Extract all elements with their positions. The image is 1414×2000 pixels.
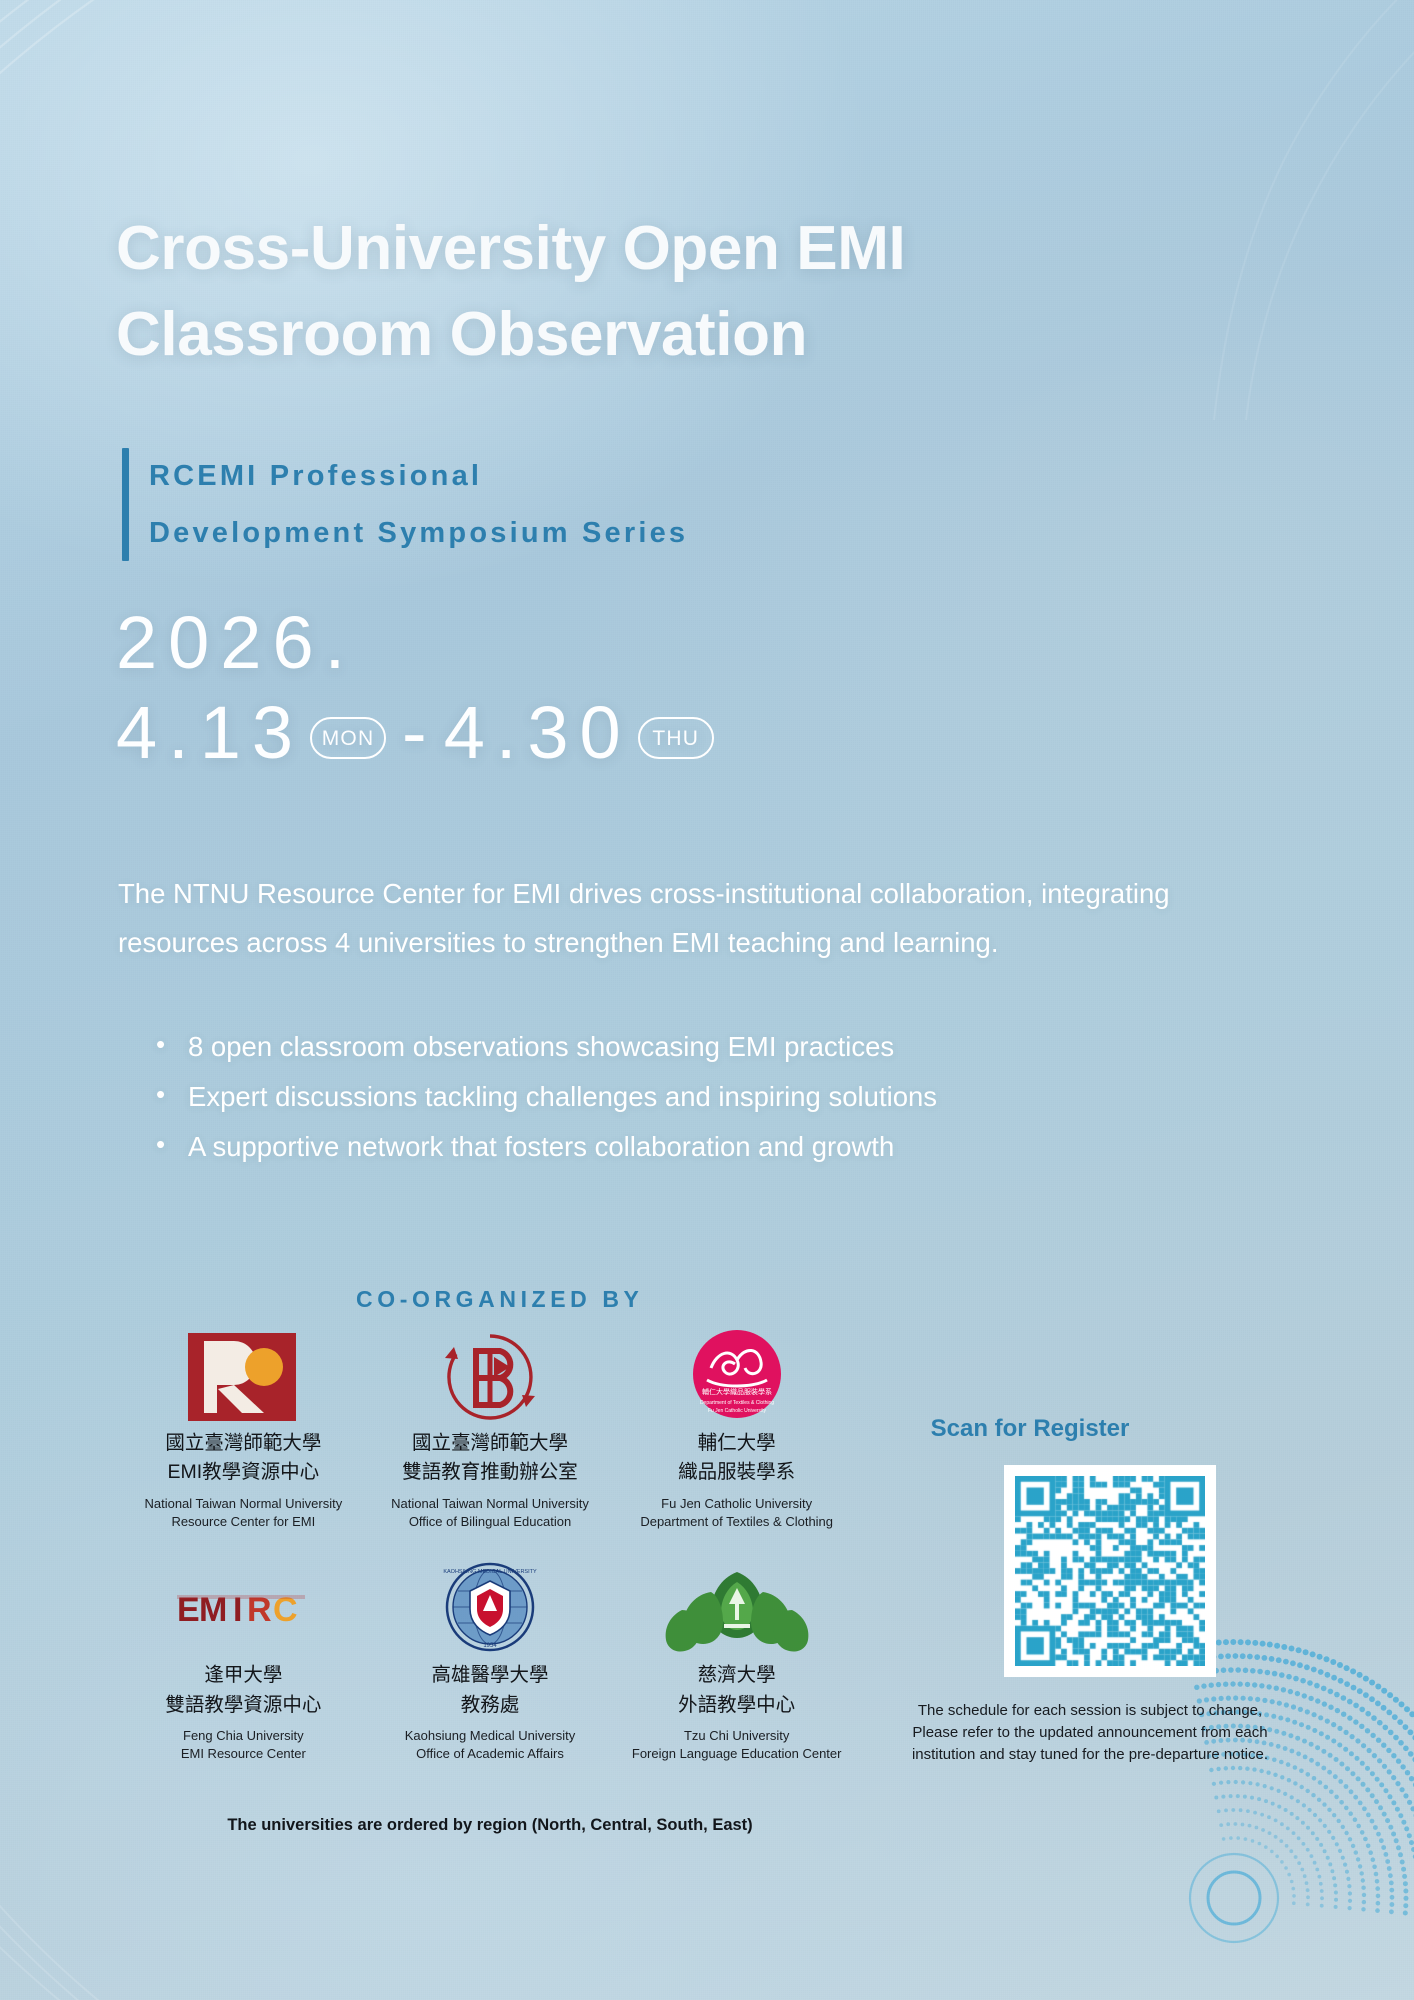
organizer-zh-line-1: 高雄醫學大學	[432, 1661, 549, 1690]
date-end-day-badge: THU	[638, 717, 714, 759]
date-start-day-badge: MON	[310, 717, 386, 759]
date-year-line: 2026.	[116, 598, 728, 688]
rcemi-logo	[182, 1325, 304, 1429]
organizer-en-line-1: Fu Jen Catholic University	[640, 1495, 833, 1513]
page-title: Cross-University Open EMI Classroom Obse…	[116, 206, 1216, 377]
subtitle-accent-bar	[122, 448, 129, 561]
title-line-2: Classroom Observation	[116, 292, 1216, 378]
organizer-row-1: 國立臺灣師範大學 EMI教學資源中心 National Taiwan Norma…	[120, 1325, 860, 1531]
organizer-zh-line-1: 慈濟大學	[678, 1661, 795, 1690]
kmu-crest-logo: 1954 KAOHSIUNG MEDICAL UNIVERSITY	[436, 1557, 544, 1661]
organizer-en-line-1: National Taiwan Normal University	[144, 1495, 342, 1513]
schedule-disclaimer: The schedule for each session is subject…	[900, 1700, 1280, 1766]
date-end: 4.30	[444, 688, 632, 778]
event-date-block: 2026. 4.13 MON - 4.30 THU	[116, 598, 728, 779]
date-year: 2026.	[116, 598, 356, 688]
organizer-zh-line-1: 國立臺灣師範大學	[165, 1429, 321, 1458]
title-line-1: Cross-University Open EMI	[116, 206, 1216, 292]
scan-for-register-label: Scan for Register	[880, 1415, 1180, 1443]
highlights-list: 8 open classroom observations showcasing…	[148, 1022, 1178, 1172]
organizer-zh-line-2: EMI教學資源中心	[165, 1458, 321, 1487]
organizer-en-line-1: National Taiwan Normal University	[391, 1495, 589, 1513]
svg-text:輔仁大學織品服裝學系: 輔仁大學織品服裝學系	[702, 1387, 772, 1396]
organizer-en-line-2: Resource Center for EMI	[144, 1513, 342, 1531]
organizer-en-line-2: Office of Academic Affairs	[405, 1745, 576, 1763]
organizer-en-line-1: Kaohsiung Medical University	[405, 1727, 576, 1745]
tcu-lotus-logo	[662, 1557, 812, 1661]
bilingual-b-logo	[436, 1325, 544, 1429]
organizer-zh-line-2: 外語教學中心	[678, 1691, 795, 1720]
svg-text:Department of Textiles & Cloth: Department of Textiles & Clothing	[700, 1400, 774, 1406]
organizer-en-line-2: Foreign Language Education Center	[632, 1745, 842, 1763]
organizer-cell: 輔仁大學織品服裝學系 Department of Textiles & Clot…	[613, 1325, 860, 1531]
list-item: A supportive network that fosters collab…	[148, 1122, 1178, 1172]
organizer-en-line-1: Feng Chia University	[181, 1727, 306, 1745]
date-separator: -	[402, 688, 438, 778]
organizer-logo-grid: 國立臺灣師範大學 EMI教學資源中心 National Taiwan Norma…	[120, 1325, 860, 1764]
organizer-en-line-2: EMI Resource Center	[181, 1745, 306, 1763]
organizer-zh-line-2: 教務處	[432, 1691, 549, 1720]
poster-canvas: Cross-University Open EMI Classroom Obse…	[0, 0, 1414, 2000]
organizer-zh-line-1: 國立臺灣師範大學	[402, 1429, 578, 1458]
list-item: Expert discussions tackling challenges a…	[148, 1072, 1178, 1122]
subtitle-line-1: RCEMI Professional	[149, 448, 688, 505]
qr-code-image	[1015, 1476, 1205, 1666]
co-organized-label: CO-ORGANIZED BY	[356, 1286, 644, 1313]
organizer-en-line-1: Tzu Chi University	[632, 1727, 842, 1745]
subtitle: RCEMI Professional Development Symposium…	[149, 448, 688, 561]
list-item: 8 open classroom observations showcasing…	[148, 1022, 1178, 1072]
svg-text:1954: 1954	[483, 1643, 497, 1649]
intro-paragraph: The NTNU Resource Center for EMI drives …	[118, 870, 1188, 968]
organizer-en-line-2: Office of Bilingual Education	[391, 1513, 589, 1531]
organizer-zh-line-1: 輔仁大學	[678, 1429, 795, 1458]
organizer-zh-line-2: 雙語教育推動辦公室	[402, 1458, 578, 1487]
svg-text:Fu Jen Catholic University: Fu Jen Catholic University	[708, 1408, 767, 1414]
fju-textiles-logo: 輔仁大學織品服裝學系 Department of Textiles & Clot…	[685, 1325, 789, 1429]
fcu-emirc-logo: E M I R C	[175, 1557, 311, 1661]
qr-code[interactable]	[1004, 1465, 1216, 1677]
svg-text:KAOHSIUNG MEDICAL UNIVERSITY: KAOHSIUNG MEDICAL UNIVERSITY	[443, 1569, 537, 1575]
organizer-row-2: E M I R C 逢甲大學 雙語教學資源中心 Feng Chia Univer…	[120, 1557, 860, 1763]
date-range-line: 4.13 MON - 4.30 THU	[116, 688, 728, 778]
organizer-cell: 國立臺灣師範大學 EMI教學資源中心 National Taiwan Norma…	[120, 1325, 367, 1531]
organizer-cell: E M I R C 逢甲大學 雙語教學資源中心 Feng Chia Univer…	[120, 1557, 367, 1763]
organizer-cell: 慈濟大學 外語教學中心 Tzu Chi University Foreign L…	[613, 1557, 860, 1763]
subtitle-block: RCEMI Professional Development Symposium…	[122, 448, 688, 561]
date-start: 4.13	[116, 688, 304, 778]
subtitle-line-2: Development Symposium Series	[149, 505, 688, 562]
region-order-note: The universities are ordered by region (…	[120, 1816, 860, 1835]
organizer-zh-line-2: 雙語教學資源中心	[165, 1691, 321, 1720]
organizer-zh-line-2: 織品服裝學系	[678, 1458, 795, 1487]
organizer-cell: 國立臺灣師範大學 雙語教育推動辦公室 National Taiwan Norma…	[367, 1325, 614, 1531]
organizer-zh-line-1: 逢甲大學	[165, 1661, 321, 1690]
organizer-en-line-2: Department of Textiles & Clothing	[640, 1513, 833, 1531]
organizer-cell: 1954 KAOHSIUNG MEDICAL UNIVERSITY 高雄醫學大學…	[367, 1557, 614, 1763]
